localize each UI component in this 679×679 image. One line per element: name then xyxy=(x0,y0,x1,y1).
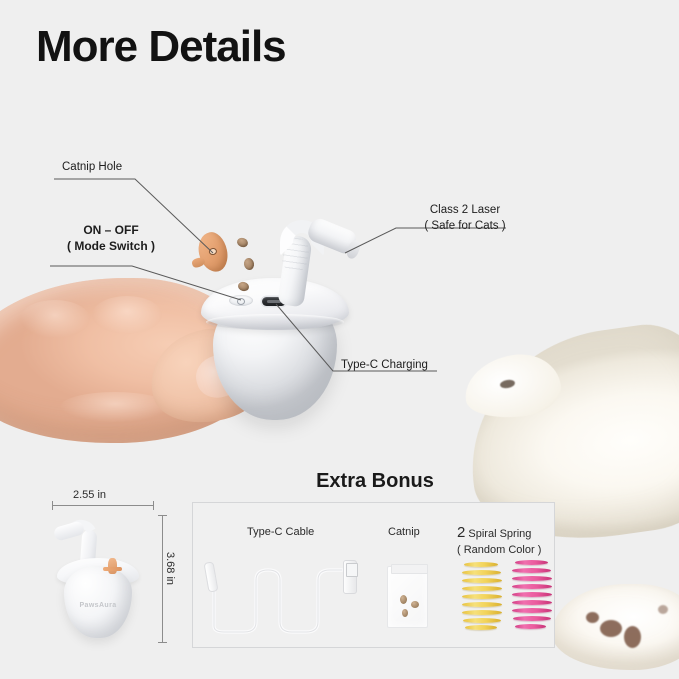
bonus-spring-count: 2 xyxy=(457,524,465,541)
cat-paw-pad xyxy=(600,620,622,637)
callout-mode-switch: ON – OFF ( Mode Switch ) xyxy=(56,222,166,254)
cat-paw-pad xyxy=(658,605,668,614)
callout-mode-switch-line1: ON – OFF xyxy=(56,222,166,238)
type-c-cable-illustration xyxy=(206,558,366,636)
usb-a-connector-icon xyxy=(343,560,357,594)
bonus-item-label-spring: 2 Spiral Spring ( Random Color ) xyxy=(457,523,541,558)
catnip-seed xyxy=(400,595,407,604)
height-dimension-line xyxy=(162,515,163,643)
bonus-spring-name: Spiral Spring xyxy=(468,528,531,540)
extra-bonus-title: Extra Bonus xyxy=(190,470,560,493)
catnip-plug xyxy=(195,230,231,275)
power-button-icon xyxy=(229,295,253,306)
callout-type-c-label: Type-C Charging xyxy=(341,359,428,371)
hand-knuckle xyxy=(20,300,90,338)
callout-mode-switch-line2: ( Mode Switch ) xyxy=(56,238,166,254)
spiral-spring-yellow xyxy=(462,562,502,630)
callout-catnip-hole-label: Catnip Hole xyxy=(62,161,122,173)
spiral-spring-pink xyxy=(512,560,552,630)
catnip-sachet-illustration xyxy=(387,566,428,628)
height-dimension-label: 3.68 in xyxy=(164,552,176,585)
cat-paw-pad xyxy=(624,626,641,648)
callout-laser-line1: Class 2 Laser xyxy=(400,203,530,219)
cable-path xyxy=(206,558,366,636)
device-seam xyxy=(206,314,344,330)
bonus-item-label-catnip: Catnip xyxy=(388,525,420,540)
product-detail-page: More Details xyxy=(0,0,679,679)
catnip-nib xyxy=(236,236,249,248)
width-dimension-line xyxy=(52,505,154,506)
hand-knuckle xyxy=(92,296,162,334)
bonus-spring-line1: 2 Spiral Spring xyxy=(457,523,541,543)
width-dimension-cap xyxy=(52,501,53,510)
callout-laser: Class 2 Laser ( Safe for Cats ) xyxy=(400,203,530,234)
catnip-seed xyxy=(402,609,408,617)
brand-logo: PawsAura xyxy=(72,602,124,609)
callout-catnip-hole: Catnip Hole xyxy=(62,160,122,176)
callout-type-c-charging: Type-C Charging xyxy=(341,358,428,374)
product-dimension-illustration: PawsAura xyxy=(52,518,144,640)
mini-catnip-plug xyxy=(108,558,117,574)
width-dimension-label: 2.55 in xyxy=(73,489,106,501)
laser-arm xyxy=(268,218,352,304)
catnip-nib xyxy=(243,257,255,271)
catnip-plug-tab xyxy=(191,256,206,269)
callout-laser-line2: ( Safe for Cats ) xyxy=(400,219,530,235)
bonus-item-label-cable: Type-C Cable xyxy=(247,525,314,540)
cat-paw-pad xyxy=(586,612,599,623)
height-dimension-cap xyxy=(158,642,167,643)
bonus-spring-sublabel: ( Random Color ) xyxy=(457,543,541,558)
catnip-seed xyxy=(411,601,419,608)
width-dimension-cap xyxy=(153,501,154,510)
height-dimension-cap xyxy=(158,515,167,516)
